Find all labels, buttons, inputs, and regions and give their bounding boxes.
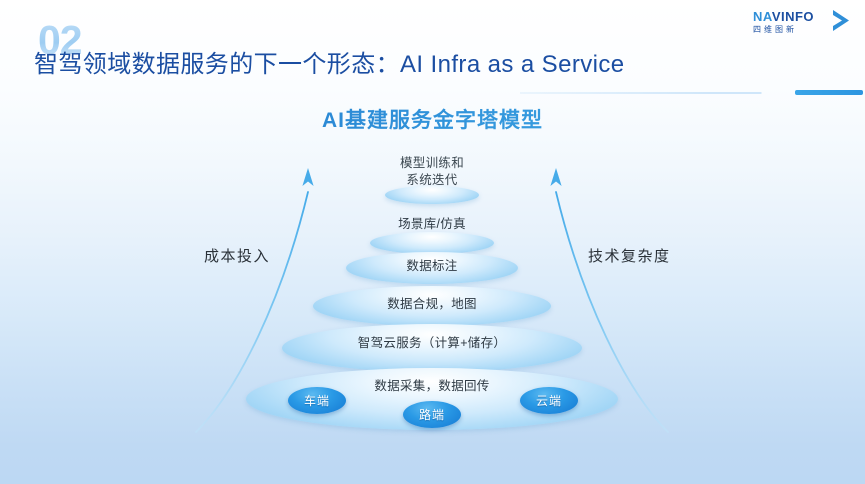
pyramid-level-6 xyxy=(385,186,479,204)
base-tag-roadside[interactable]: 路端 xyxy=(403,401,461,428)
pyramid-level-1-label: 数据采集，数据回传 xyxy=(374,378,489,394)
pyramid-level-5 xyxy=(370,232,494,254)
right-axis-label: 技术复杂度 xyxy=(588,245,671,266)
left-arrow-head xyxy=(302,168,313,186)
pyramid-level-4-label: 数据标注 xyxy=(406,258,457,274)
left-axis-label: 成本投入 xyxy=(204,245,270,266)
pyramid-level-3-label: 数据合规，地图 xyxy=(387,296,477,312)
right-arrow-head xyxy=(550,168,561,186)
pyramid-level-6-label: 模型训练和 系统迭代 xyxy=(400,155,464,189)
slide-canvas: NAVINFO 四维图新 02 智驾领域数据服务的下一个形态：AI Infra … xyxy=(0,0,865,484)
base-tag-cloud[interactable]: 云端 xyxy=(520,387,578,414)
pyramid-diagram: 成本投入 技术复杂度 模型训练和 系统迭代 场景库/仿真 数据标注 数据合规，地… xyxy=(0,0,865,484)
pyramid-level-6-label-line1: 模型训练和 xyxy=(400,155,464,172)
pyramid-level-5-label: 场景库/仿真 xyxy=(398,216,466,232)
base-tag-vehicle[interactable]: 车端 xyxy=(288,387,346,414)
pyramid-level-2-label: 智驾云服务（计算+储存） xyxy=(358,335,506,351)
